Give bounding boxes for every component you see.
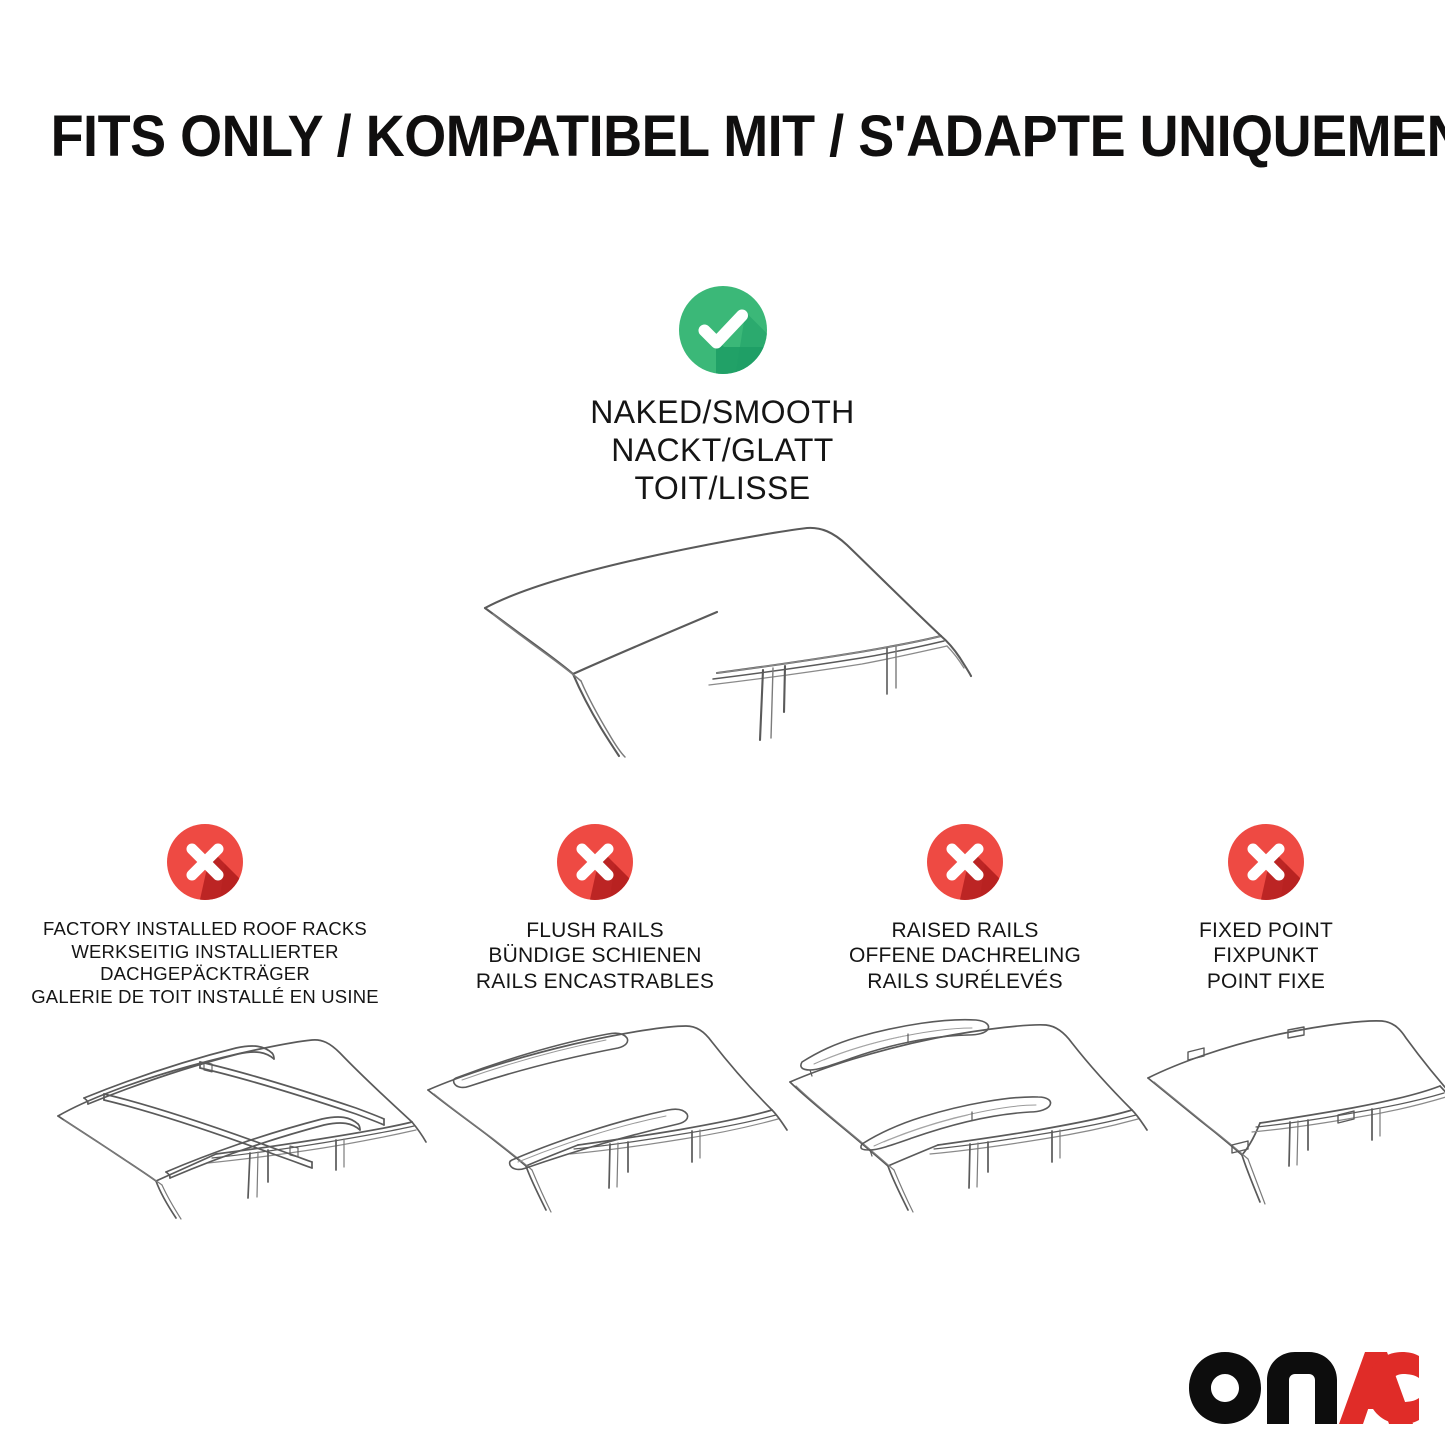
label-line-de: BÜNDIGE SCHIENEN (415, 943, 775, 968)
car-roof-fixed-point-illustration (1140, 1020, 1445, 1220)
car-roof-raised-rails-illustration (780, 1020, 1150, 1220)
compatible-label-line-en: NAKED/SMOOTH (0, 394, 1445, 432)
label-line-de-2: DACHGEPÄCKTRÄGER (5, 963, 405, 986)
incompatible-label: FACTORY INSTALLED ROOF RACKS WERKSEITIG … (5, 918, 405, 1008)
label-line-de-1: WERKSEITIG INSTALLIERTER (5, 941, 405, 964)
incompatible-item-raised-rails: RAISED RAILS OFFENE DACHRELING RAILS SUR… (785, 820, 1145, 994)
cross-circle-icon (163, 820, 247, 904)
label-line-fr: RAILS SURÉLEVÉS (785, 969, 1145, 994)
label-line-fr: GALERIE DE TOIT INSTALLÉ EN USINE (5, 986, 405, 1009)
incompatible-label: FIXED POINT FIXPUNKT POINT FIXE (1150, 918, 1382, 994)
label-line-de: FIXPUNKT (1150, 943, 1382, 968)
compatible-label-line-de: NACKT/GLATT (0, 432, 1445, 470)
cross-circle-icon (553, 820, 637, 904)
label-line-de: OFFENE DACHRELING (785, 943, 1145, 968)
cross-circle-icon (1224, 820, 1308, 904)
incompatible-label: FLUSH RAILS BÜNDIGE SCHIENEN RAILS ENCAS… (415, 918, 775, 994)
omac-logo (1187, 1350, 1419, 1426)
label-line-fr: POINT FIXE (1150, 969, 1382, 994)
incompatible-item-factory-installed-roof-racks: FACTORY INSTALLED ROOF RACKS WERKSEITIG … (5, 820, 405, 1008)
label-line-en: FACTORY INSTALLED ROOF RACKS (5, 918, 405, 941)
label-line-en: FLUSH RAILS (415, 918, 775, 943)
check-circle-icon (675, 282, 771, 378)
label-line-en: RAISED RAILS (785, 918, 1145, 943)
incompatible-item-fixed-point: FIXED POINT FIXPUNKT POINT FIXE (1150, 820, 1382, 994)
page-title: FITS ONLY / KOMPATIBEL MIT / S'ADAPTE UN… (51, 103, 1395, 170)
cross-circle-icon (923, 820, 1007, 904)
incompatible-item-flush-rails: FLUSH RAILS BÜNDIGE SCHIENEN RAILS ENCAS… (415, 820, 775, 994)
label-line-en: FIXED POINT (1150, 918, 1382, 943)
car-roof-factory-racks-illustration (40, 1020, 420, 1220)
car-roof-flush-rails-illustration (420, 1020, 790, 1220)
compatible-section: NAKED/SMOOTH NACKT/GLATT TOIT/LISSE (0, 282, 1445, 507)
car-roof-naked-smooth-illustration (455, 488, 1000, 758)
incompatible-label: RAISED RAILS OFFENE DACHRELING RAILS SUR… (785, 918, 1145, 994)
label-line-fr: RAILS ENCASTRABLES (415, 969, 775, 994)
